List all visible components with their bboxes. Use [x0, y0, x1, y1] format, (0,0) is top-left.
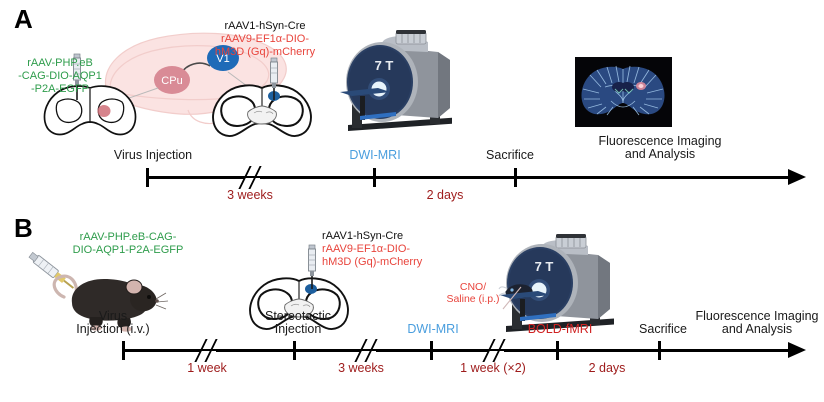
vector-label-a-left: rAAV-PHP.eB -CAG-DIO-AQP1 -P2A-EGFP [8, 57, 112, 96]
vector-a-left-line2: -CAG-DIO-AQP1 [8, 70, 112, 83]
timeline-b-interval-1-week-x2: 1 week (×2) [438, 361, 548, 375]
timeline-b-virus-line2: Injection (i.v.) [58, 323, 168, 336]
timeline-b-break-1 [360, 339, 376, 362]
syringe-icon-right [267, 58, 281, 100]
timeline-a-tick-0 [146, 168, 149, 187]
vector-label-b-right: rAAV1-hSyn-Cre rAAV9-EF1α-DIO- hM3D (Gq)… [322, 230, 462, 269]
timeline-a-arrowhead [788, 169, 806, 185]
timeline-panel-b: Virus Injection (i.v.) Stereotactic Inje… [0, 335, 824, 375]
scanner-label-b: 7 T [535, 259, 554, 274]
timeline-b-break-0 [200, 339, 216, 362]
timeline-b-tick-0 [122, 341, 125, 360]
cno-label-line1: CNO/ [440, 281, 506, 293]
timeline-b-interval-2-days: 2 days [552, 361, 662, 375]
timeline-b-break-2 [488, 339, 504, 362]
vector-a-left-line3: -P2A-EGFP [8, 83, 112, 96]
timeline-b-tick-1 [293, 341, 296, 360]
timeline-a-event-virus-injection: Virus Injection [78, 148, 228, 162]
timeline-b-event-bold-fmri: BOLD-fMRI [505, 322, 615, 336]
timeline-a-interval-2-days: 2 days [390, 188, 500, 202]
cno-saline-label: CNO/ Saline (i.p.) [440, 281, 506, 305]
panel-a-letter: A [14, 4, 33, 35]
syringe-icon-stereotactic [305, 245, 319, 289]
timeline-b-event-stereotactic: Stereotactic Injection [238, 310, 358, 336]
coronal-brain-v1 [210, 82, 314, 140]
vector-b-left-line2: DIO-AQP1-P2A-EGFP [58, 244, 198, 257]
panel-b-letter: B [14, 213, 33, 244]
timeline-b-stereo-line2: Injection [238, 323, 358, 336]
scanner-label-a: 7 T [375, 58, 394, 73]
timeline-panel-a: Virus Injection DWI-MRI Sacrifice Fluore… [0, 162, 824, 202]
vector-a-right-line1: rAAV1-hSyn-Cre [196, 20, 334, 33]
timeline-b-interval-1-week: 1 week [152, 361, 262, 375]
timeline-b-arrowhead [788, 342, 806, 358]
timeline-b-tick-2 [430, 341, 433, 360]
timeline-a-break-0 [244, 166, 260, 189]
timeline-b-event-dwi-mri: DWI-MRI [388, 322, 478, 336]
timeline-a-interval-3-weeks: 3 weeks [195, 188, 305, 202]
vector-b-right-line3: hM3D (Gq)-mCherry [322, 256, 462, 269]
timeline-a-event-fluorescence: Fluorescence Imaging and Analysis [570, 135, 750, 161]
region-label-cpu: CPu [161, 75, 182, 87]
vector-a-right-line2: rAAV9-EF1α-DIO- [196, 33, 334, 46]
timeline-a-tick-2 [514, 168, 517, 187]
timeline-b-event-virus-injection: Virus Injection (i.v.) [58, 310, 168, 336]
vector-label-b-left: rAAV-PHP.eB-CAG- DIO-AQP1-P2A-EGFP [58, 231, 198, 257]
timeline-b-fluor-line2: and Analysis [690, 323, 824, 336]
timeline-a-fluor-line2: and Analysis [570, 148, 750, 161]
vector-a-right-line3: hM3D (Gq)-mCherry [196, 46, 334, 59]
cno-label-line2: Saline (i.p.) [440, 293, 506, 305]
vector-a-left-line1: rAAV-PHP.eB [8, 57, 112, 70]
vector-b-right-line2: rAAV9-EF1α-DIO- [322, 243, 462, 256]
timeline-b-axis [122, 349, 794, 352]
vector-b-left-line1: rAAV-PHP.eB-CAG- [58, 231, 198, 244]
timeline-a-event-sacrifice: Sacrifice [465, 148, 555, 162]
vector-b-right-line1: rAAV1-hSyn-Cre [322, 230, 462, 243]
mri-scanner-a: 7 T [334, 30, 462, 138]
timeline-b-interval-3-weeks: 3 weeks [306, 361, 416, 375]
timeline-a-tick-1 [373, 168, 376, 187]
fluorescence-brain-image [575, 57, 672, 127]
panel-b: B [0, 205, 824, 402]
vector-label-a-right: rAAV1-hSyn-Cre rAAV9-EF1α-DIO- hM3D (Gq)… [196, 20, 334, 59]
panel-a: A CPu V1 [0, 0, 824, 205]
timeline-b-tick-4 [658, 341, 661, 360]
timeline-b-event-fluorescence: Fluorescence Imaging and Analysis [690, 310, 824, 336]
timeline-a-event-dwi-mri: DWI-MRI [325, 148, 425, 162]
timeline-b-tick-3 [556, 341, 559, 360]
cno-leader-line [503, 285, 525, 311]
